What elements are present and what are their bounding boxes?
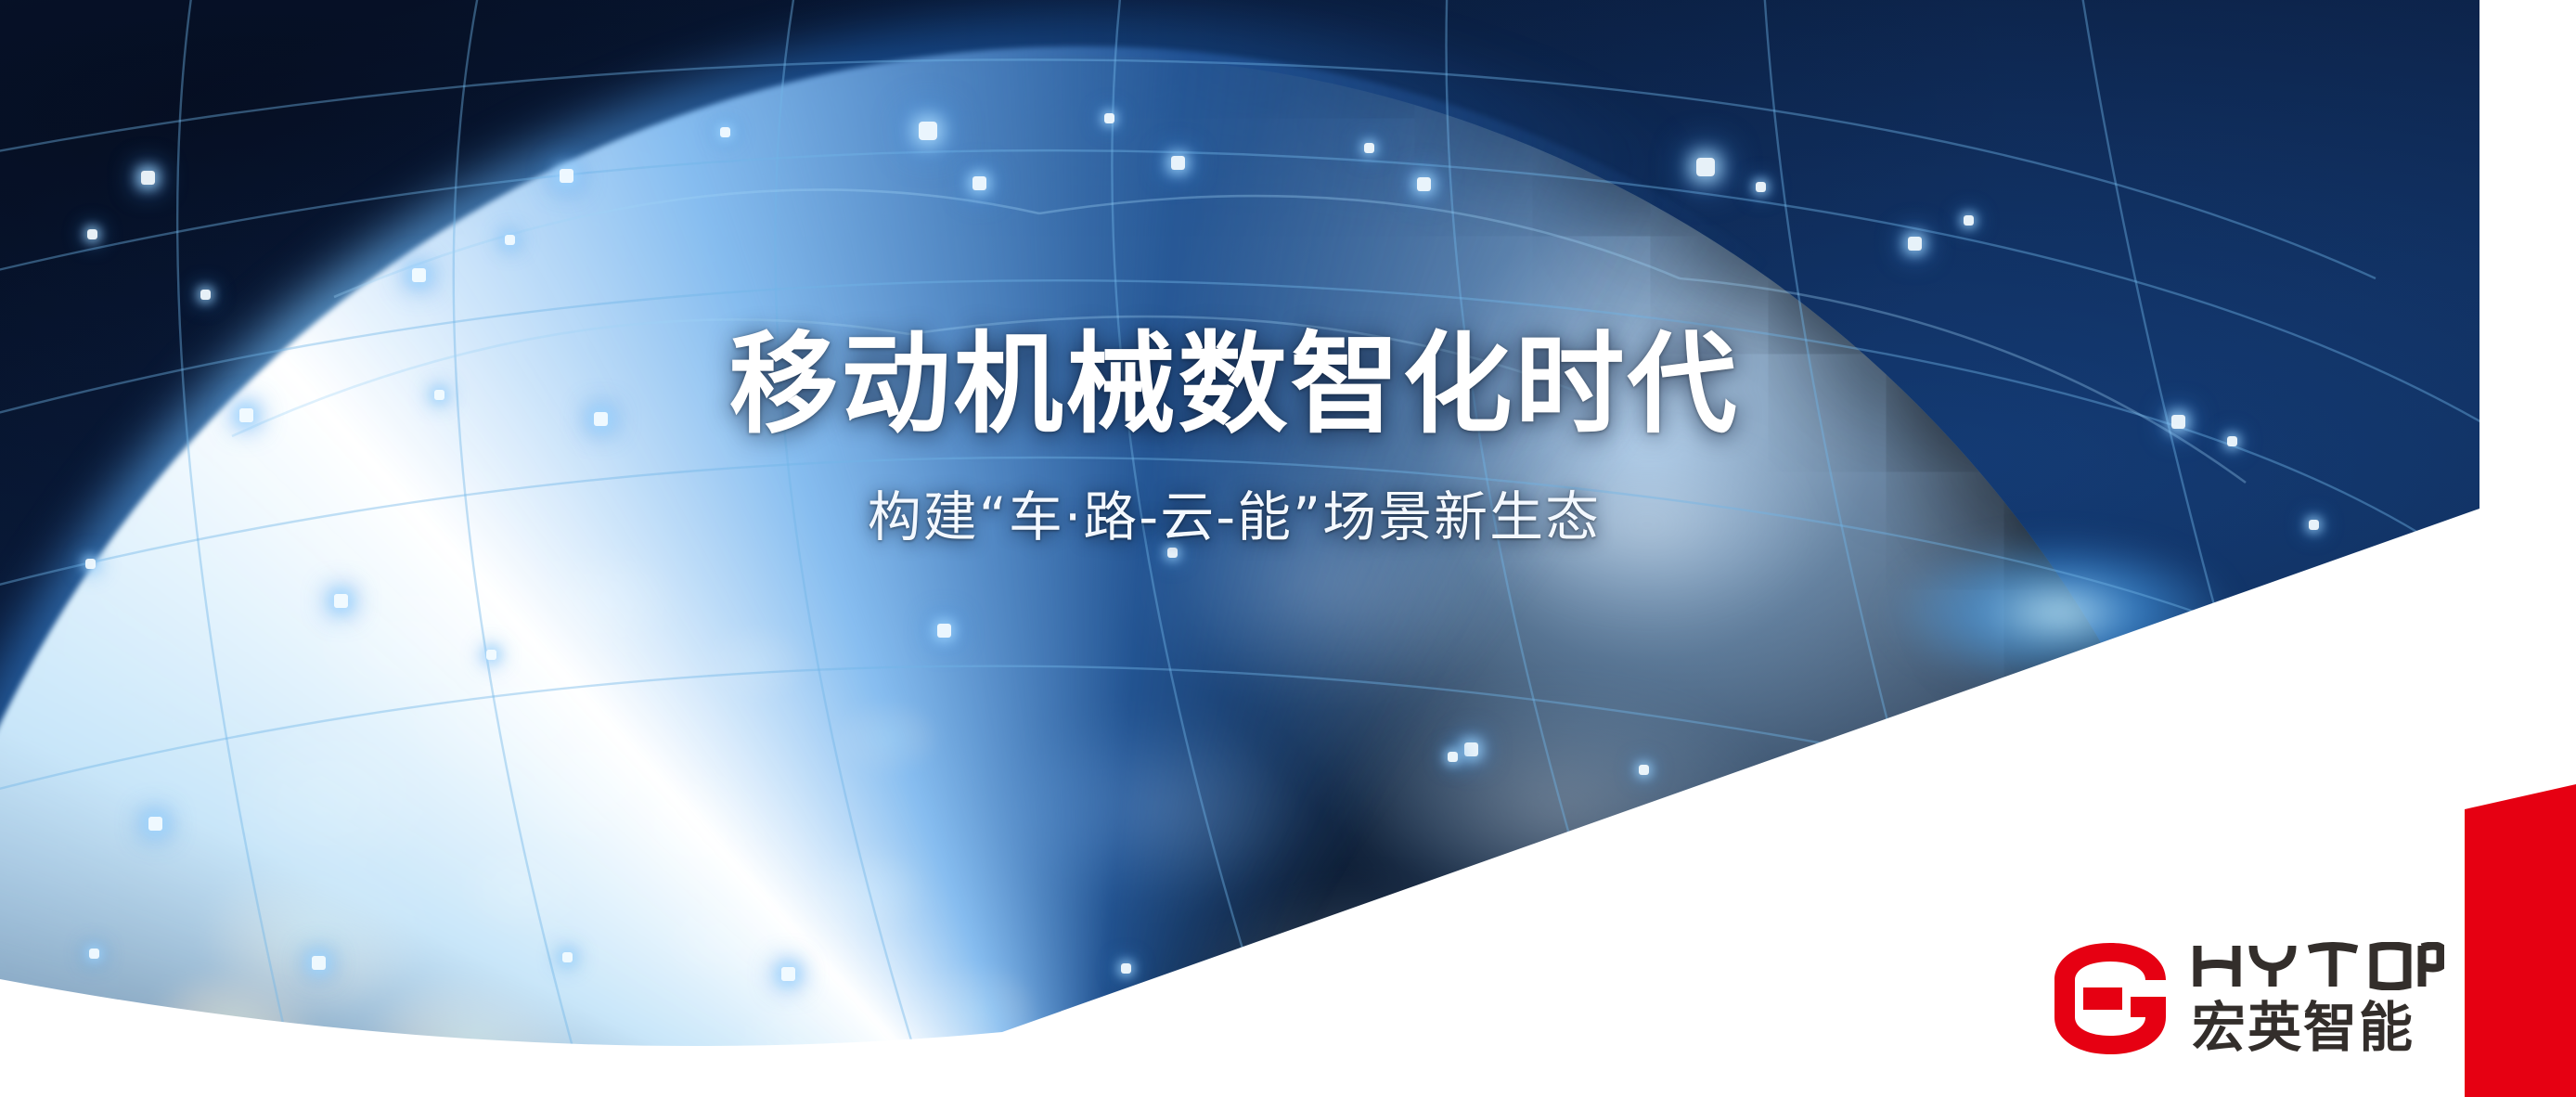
network-node: [562, 952, 573, 962]
network-node: [1417, 177, 1431, 191]
network-node: [1364, 143, 1374, 153]
network-node: [937, 624, 951, 638]
logo-wordmark-en: [2192, 942, 2444, 990]
headline-block: 移动机械数智化时代 构建“车·路-云-能”场景新生态: [0, 327, 2468, 550]
network-node: [781, 967, 795, 981]
network-node: [1171, 156, 1185, 170]
logo-wordmark-group: 宏英智能: [2192, 942, 2444, 1055]
network-node: [1694, 809, 1705, 820]
network-node: [148, 817, 162, 831]
network-node: [1756, 182, 1766, 192]
presentation-slide: 移动机械数智化时代 构建“车·路-云-能”场景新生态: [0, 0, 2576, 1097]
network-node: [1121, 963, 1131, 974]
network-node: [89, 949, 99, 959]
network-node: [85, 559, 96, 569]
slide-title: 移动机械数智化时代: [0, 327, 2468, 443]
network-node: [141, 171, 155, 185]
network-node: [560, 169, 573, 183]
network-node: [1964, 215, 1974, 226]
network-node: [972, 176, 986, 190]
network-node: [312, 956, 326, 970]
hytop-logo-mark: [2053, 939, 2168, 1058]
network-node: [1696, 158, 1715, 176]
logo-wordmark-cn: 宏英智能: [2192, 998, 2444, 1055]
svg-text:宏英智能: 宏英智能: [2192, 998, 2415, 1055]
network-node: [200, 290, 211, 300]
network-node: [505, 235, 515, 245]
network-node: [412, 268, 426, 282]
network-node: [1908, 237, 1922, 251]
network-node: [334, 594, 348, 608]
company-logo: 宏英智能: [2053, 939, 2444, 1058]
network-node: [1464, 742, 1478, 756]
network-node: [1104, 113, 1114, 123]
network-node: [87, 229, 97, 239]
network-node: [720, 127, 730, 137]
network-node: [486, 650, 496, 660]
network-node: [919, 122, 937, 140]
red-accent-bar: [2465, 0, 2576, 1097]
slide-subtitle: 构建“车·路-云-能”场景新生态: [0, 485, 2468, 550]
network-node: [1639, 765, 1649, 775]
network-node: [1448, 752, 1458, 762]
